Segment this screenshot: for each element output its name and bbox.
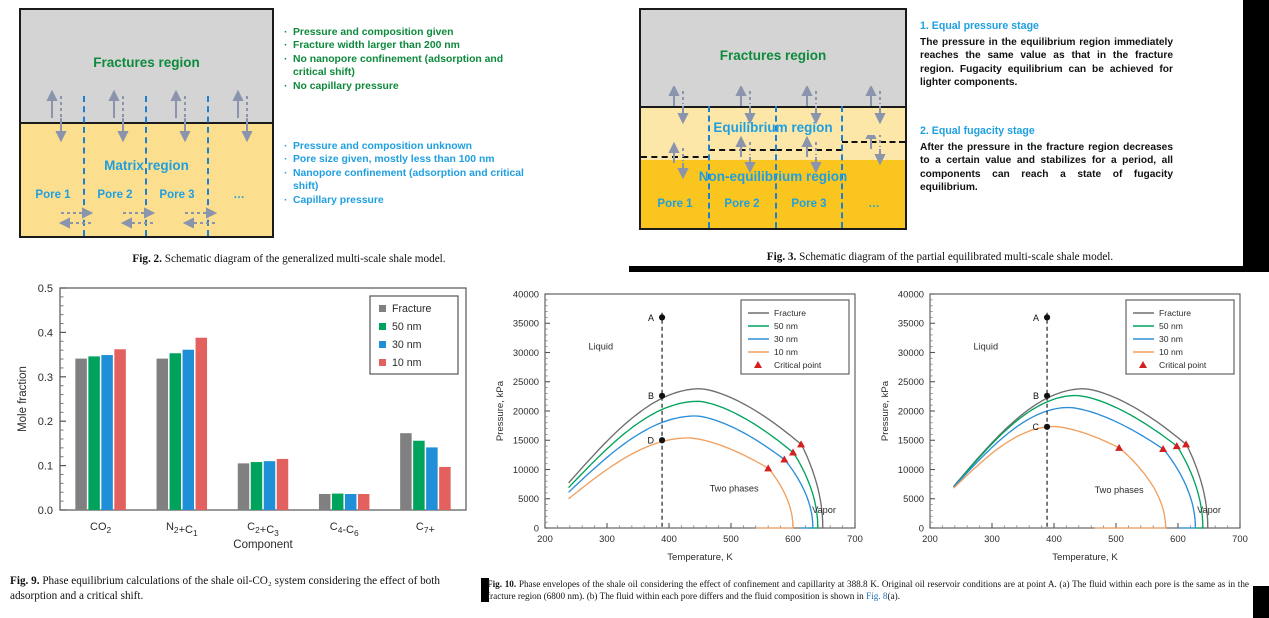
fig2-pore-label-2: Pore 2 (88, 189, 142, 201)
fig3-caption-text: Schematic diagram of the partial equilib… (799, 251, 1113, 263)
fig2-pore-exchange-arrows (21, 206, 276, 234)
legend-label: 10 nm (392, 357, 422, 369)
svg-text:0.0: 0.0 (38, 505, 53, 517)
bullet-text: No capillary pressure (293, 80, 399, 93)
legend-label: Fracture (392, 303, 432, 315)
scan-artifact-right-top (1243, 0, 1269, 270)
bar (277, 459, 289, 510)
envelope-curve (954, 408, 1196, 529)
fig2-caption-text: Schematic diagram of the generalized mul… (165, 253, 446, 265)
fig9-caption: Fig. 9. Phase equilibrium calculations o… (10, 574, 475, 603)
fig3-caption: Fig. 3. Schematic diagram of the partial… (660, 250, 1220, 265)
fig2-matrix-region-label: Matrix region (21, 158, 272, 173)
svg-text:20000: 20000 (898, 405, 924, 416)
marked-point (659, 437, 665, 443)
svg-text:Mole fraction: Mole fraction (17, 366, 29, 432)
bar (196, 338, 208, 510)
bar (238, 463, 250, 510)
fig10-caption-text-2: (a). (888, 591, 901, 601)
svg-text:10000: 10000 (898, 464, 924, 475)
svg-text:500: 500 (1108, 533, 1124, 544)
marked-point-label: D (648, 436, 655, 446)
bar (183, 350, 195, 510)
svg-text:0.1: 0.1 (38, 461, 53, 473)
svg-text:C4-C6: C4-C6 (330, 521, 359, 538)
bar (400, 433, 412, 510)
svg-text:0.2: 0.2 (38, 416, 53, 428)
legend-label: 30 nm (774, 334, 798, 344)
marked-point (1044, 393, 1050, 399)
marked-point-label: C (1033, 422, 1040, 432)
bar (88, 356, 100, 510)
fig3-equilibrium-region-label: Equilibrium region (641, 120, 905, 135)
svg-text:0: 0 (534, 522, 539, 533)
svg-text:40000: 40000 (898, 288, 924, 299)
marked-point-label: B (648, 391, 654, 401)
bar (114, 349, 126, 510)
fig3-pore-label-4: … (845, 198, 903, 210)
svg-text:5000: 5000 (518, 493, 539, 504)
svg-text:0.4: 0.4 (38, 327, 53, 339)
svg-text:35000: 35000 (513, 318, 539, 329)
bullet-text: Fracture width larger than 200 nm (293, 39, 460, 52)
svg-text:700: 700 (847, 533, 863, 544)
fig2-pore-label-3: Pore 3 (150, 189, 204, 201)
bullet-text: Pore size given, mostly less than 100 nm (293, 153, 495, 166)
fig10a-envelope-svg: 0500010000150002000025000300003500040000… (487, 280, 867, 570)
bullet-text: No nanopore confinement (adsorption and … (293, 53, 524, 80)
region-annotation: Liquid (974, 342, 999, 352)
fig3-fractures-region-label: Fractures region (641, 48, 905, 63)
fig2-fractures-region-label: Fractures region (21, 55, 272, 70)
svg-text:400: 400 (661, 533, 677, 544)
svg-text:30000: 30000 (898, 347, 924, 358)
svg-text:25000: 25000 (898, 376, 924, 387)
fig3-stage-2-body: After the pressure in the fracture regio… (920, 141, 1173, 194)
envelope-curve (954, 427, 1166, 529)
bar (157, 359, 169, 510)
envelope-curve (569, 438, 793, 528)
bar (251, 462, 263, 510)
bar (264, 461, 276, 510)
legend-label: 50 nm (774, 321, 798, 331)
bar (413, 441, 425, 510)
fig10b-envelope-svg: 0500010000150002000025000300003500040000… (872, 280, 1252, 570)
svg-text:200: 200 (922, 533, 938, 544)
critical-point-marker (764, 464, 772, 471)
bar (358, 494, 370, 510)
fig2-transfer-arrows (21, 90, 276, 150)
fig3-pore-label-1: Pore 1 (646, 198, 704, 210)
fig3-stage-1: 1. Equal pressure stage The pressure in … (920, 20, 1173, 89)
marked-point (659, 393, 665, 399)
region-annotation: Two phases (1095, 485, 1144, 495)
legend-label: Fracture (1159, 308, 1191, 318)
svg-text:0.5: 0.5 (38, 283, 53, 295)
fig10-caption-link[interactable]: Fig. 8 (866, 591, 887, 601)
svg-text:5000: 5000 (903, 493, 924, 504)
bullet-text: Nanopore confinement (adsorption and cri… (293, 167, 536, 194)
bar (170, 353, 182, 510)
bar (319, 494, 331, 510)
region-annotation: Two phases (710, 484, 759, 494)
svg-text:600: 600 (785, 533, 801, 544)
y-axis-title: Pressure, kPa (880, 380, 891, 441)
svg-text:10000: 10000 (513, 464, 539, 475)
critical-point-marker (1159, 445, 1167, 452)
svg-text:30000: 30000 (513, 347, 539, 358)
marked-point-label: A (1033, 313, 1039, 323)
marked-point (659, 314, 665, 320)
region-annotation: Vapor (1197, 505, 1221, 515)
legend-label: Critical point (1159, 360, 1207, 370)
svg-text:700: 700 (1232, 533, 1248, 544)
scan-artifact-bottom-left (629, 266, 1269, 272)
marked-point-label: A (648, 313, 654, 323)
fig9-chart: 0.00.10.20.30.40.5CO2N2+C1C2+C3C4-C6C7+C… (8, 278, 478, 556)
fig9-bar-svg: 0.00.10.20.30.40.5CO2N2+C1C2+C3C4-C6C7+C… (8, 278, 478, 556)
region-annotation: Vapor (812, 505, 836, 515)
svg-text:0: 0 (919, 522, 924, 533)
legend-label: 30 nm (392, 339, 422, 351)
bar (439, 467, 451, 510)
fig3-nonequilibrium-region-label: Non-equilibrium region (641, 169, 905, 184)
fig3-caption-label: Fig. 3. (767, 251, 797, 263)
marked-point (1044, 424, 1050, 430)
legend-label: Critical point (774, 360, 822, 370)
legend-swatch (379, 323, 386, 330)
critical-point-marker (1115, 444, 1123, 451)
fig3-pore-label-2: Pore 2 (713, 198, 771, 210)
envelope-curve (954, 396, 1203, 529)
fig2-fracture-bullets: ·Pressure and composition given ·Fractur… (284, 26, 524, 93)
fig3-stage-1-body: The pressure in the equilibrium region i… (920, 36, 1173, 89)
fig3-stage-2-heading: 2. Equal fugacity stage (920, 125, 1173, 138)
fig10a-chart: 0500010000150002000025000300003500040000… (487, 280, 867, 570)
fig3-stage-1-heading: 1. Equal pressure stage (920, 20, 1173, 33)
svg-text:N2+C1: N2+C1 (166, 521, 198, 538)
x-axis-title: Temperature, K (1052, 552, 1118, 563)
bullet-text: Capillary pressure (293, 194, 384, 207)
fig2-caption-label: Fig. 2. (132, 253, 162, 265)
svg-text:200: 200 (537, 533, 553, 544)
svg-text:15000: 15000 (898, 435, 924, 446)
svg-text:600: 600 (1170, 533, 1186, 544)
fig3-schematic: Fractures region Equilibrium region Non-… (639, 8, 907, 230)
bar (101, 355, 113, 510)
fig2-matrix-bullets: ·Pressure and composition unknown ·Pore … (284, 140, 536, 207)
svg-text:15000: 15000 (513, 435, 539, 446)
fig10-caption-label: Fig. 10. (487, 579, 516, 589)
legend-label: 50 nm (1159, 321, 1183, 331)
scan-artifact-right-bottom (1253, 586, 1269, 618)
bar (345, 494, 357, 510)
fig9-caption-label: Fig. 9. (10, 575, 40, 587)
legend-label: Fracture (774, 308, 806, 318)
svg-text:35000: 35000 (898, 318, 924, 329)
bullet-text: Pressure and composition given (293, 26, 454, 39)
legend-swatch (379, 341, 386, 348)
fig3-pore-label-3: Pore 3 (780, 198, 838, 210)
fig2-pore-label-1: Pore 1 (26, 189, 80, 201)
legend-label: 30 nm (1159, 334, 1183, 344)
envelope-curve (569, 416, 813, 528)
svg-text:300: 300 (599, 533, 615, 544)
fig10-caption: Fig. 10. Phase envelopes of the shale oi… (487, 578, 1249, 603)
svg-text:300: 300 (984, 533, 1000, 544)
marked-point-label: B (1033, 391, 1039, 401)
svg-text:C7+: C7+ (416, 521, 435, 536)
svg-text:25000: 25000 (513, 376, 539, 387)
envelope-curve (569, 401, 818, 528)
fig2-pore-label-4: … (212, 189, 266, 201)
bar (75, 359, 87, 510)
svg-text:CO2: CO2 (90, 521, 112, 535)
bullet-text: Pressure and composition unknown (293, 140, 472, 153)
fig2-caption: Fig. 2. Schematic diagram of the general… (84, 252, 494, 267)
fig3-stage-2: 2. Equal fugacity stage After the pressu… (920, 125, 1173, 194)
x-axis-title: Temperature, K (667, 552, 733, 563)
legend-swatch (379, 359, 386, 366)
svg-text:500: 500 (723, 533, 739, 544)
y-axis-title: Pressure, kPa (495, 380, 506, 441)
bar (426, 447, 438, 510)
fig2-schematic: Fractures region Matrix region Pore 1 Po… (19, 8, 274, 238)
svg-text:400: 400 (1046, 533, 1062, 544)
fig9-caption-text: Phase equilibrium calculations of the sh… (10, 575, 440, 602)
legend-swatch (379, 305, 386, 312)
legend-label: 50 nm (392, 321, 422, 333)
legend-label: 10 nm (774, 347, 798, 357)
region-annotation: Liquid (589, 342, 614, 352)
svg-text:20000: 20000 (513, 405, 539, 416)
bar (332, 494, 344, 510)
fig10b-chart: 0500010000150002000025000300003500040000… (872, 280, 1252, 570)
legend-label: 10 nm (1159, 347, 1183, 357)
svg-text:40000: 40000 (513, 288, 539, 299)
marked-point (1044, 314, 1050, 320)
svg-text:Component: Component (233, 539, 293, 551)
svg-text:0.3: 0.3 (38, 372, 53, 384)
svg-text:C2+C3: C2+C3 (247, 521, 279, 538)
